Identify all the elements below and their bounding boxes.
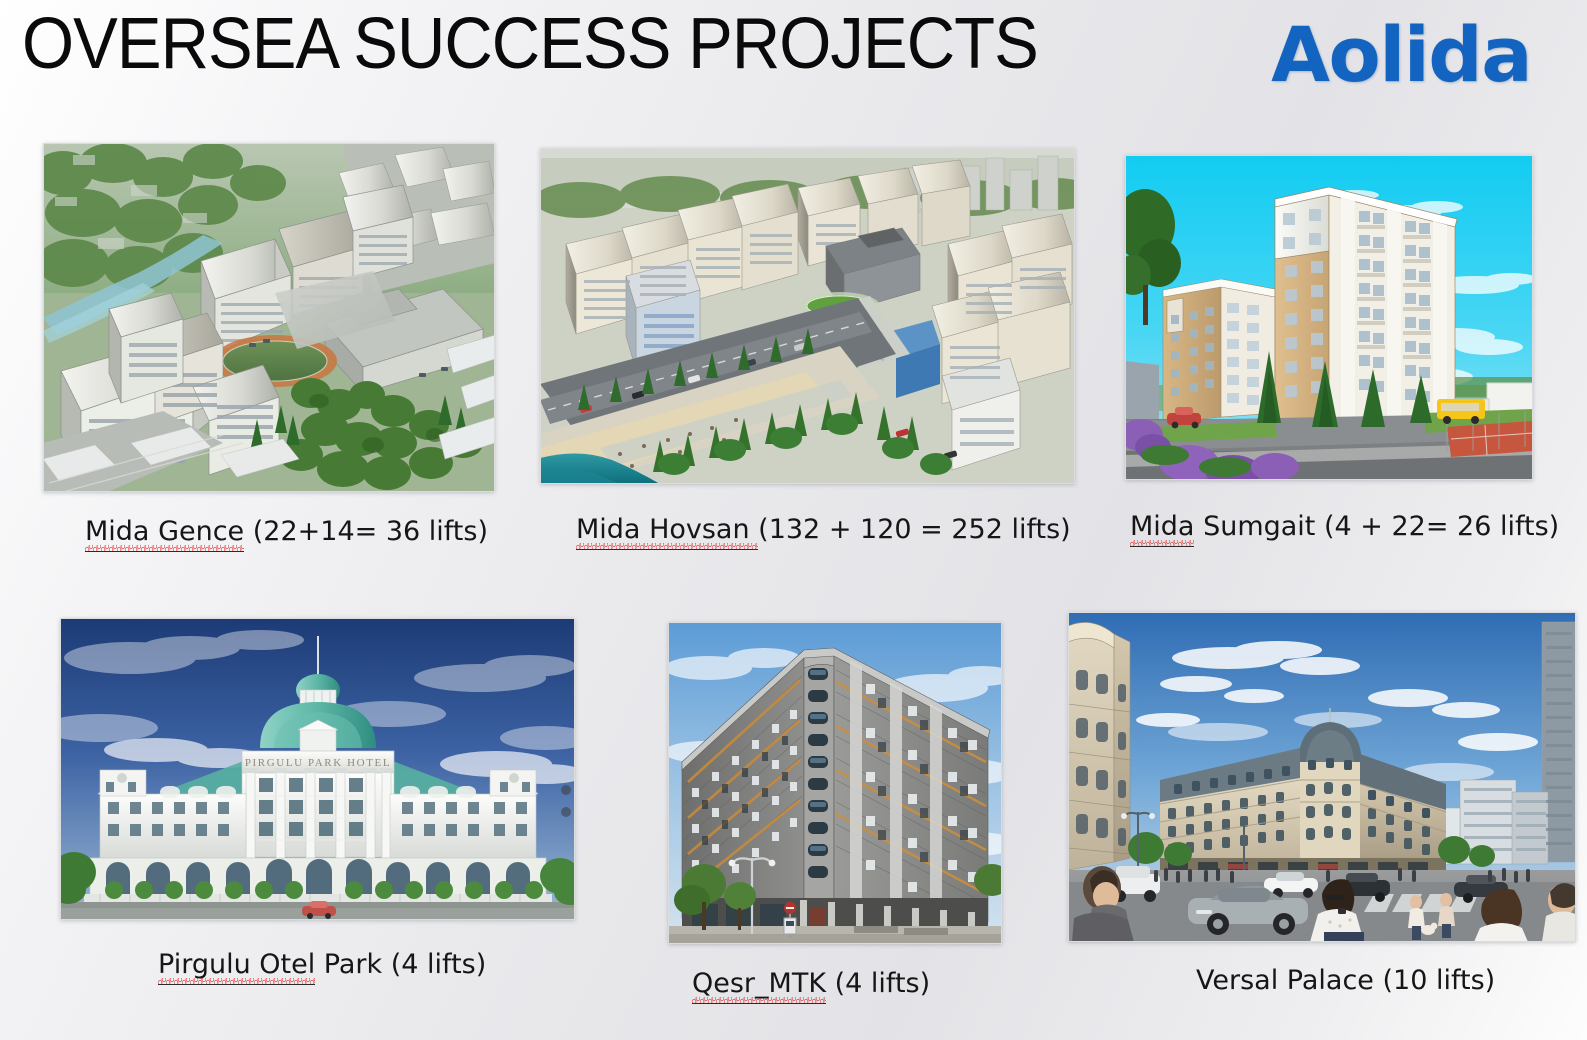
project-image-mida-gence xyxy=(43,143,495,492)
project-card-mida-hovsan[interactable]: Mida Hovsan (132 + 120 = 252 lifts) xyxy=(540,148,1075,484)
project-detail-qesr-mtk: (4 lifts) xyxy=(826,968,930,999)
project-caption-qesr-mtk: Qesr_MTK (4 lifts) xyxy=(692,967,930,1001)
project-name-pirgulu-otel-park: Pirgulu Otel xyxy=(158,949,315,985)
project-card-mida-sumgait[interactable]: Mida Sumgait (4 + 22= 26 lifts) xyxy=(1125,155,1533,480)
project-name-mida-gence: Mida Gence xyxy=(85,516,244,552)
project-card-qesr-mtk[interactable]: Qesr_MTK (4 lifts) xyxy=(668,622,1002,944)
project-image-qesr-mtk xyxy=(668,622,1002,944)
project-name-mida-hovsan: Mida Hovsan xyxy=(576,514,758,550)
project-name-mida-sumgait: Mida xyxy=(1130,511,1194,547)
project-caption-mida-sumgait: Mida Sumgait (4 + 22= 26 lifts) xyxy=(1130,510,1559,544)
svg-text:PIRGULU PARK HOTEL: PIRGULU PARK HOTEL xyxy=(245,757,391,769)
project-caption-pirgulu-otel-park: Pirgulu Otel Park (4 lifts) xyxy=(158,948,486,982)
project-detail-pirgulu-otel-park: Park (4 lifts) xyxy=(315,949,486,980)
project-detail-mida-gence: (22+14= 36 lifts) xyxy=(244,516,488,547)
project-card-pirgulu-otel-park[interactable]: PIRGULU PARK HOTEL xyxy=(60,618,575,920)
project-image-versal-palace xyxy=(1068,612,1576,942)
project-name-versal-palace: Versal Palace (10 lifts) xyxy=(1196,965,1495,996)
project-detail-mida-sumgait: Sumgait (4 + 22= 26 lifts) xyxy=(1194,511,1559,542)
project-caption-versal-palace: Versal Palace (10 lifts) xyxy=(1196,964,1495,998)
project-detail-mida-hovsan: (132 + 120 = 252 lifts) xyxy=(758,514,1071,545)
project-image-mida-hovsan xyxy=(540,148,1075,484)
project-image-pirgulu-otel-park: PIRGULU PARK HOTEL xyxy=(60,618,575,920)
brand-logo-aolida: Aolida xyxy=(1271,12,1531,98)
project-caption-mida-hovsan: Mida Hovsan (132 + 120 = 252 lifts) xyxy=(576,513,1071,547)
project-caption-mida-gence: Mida Gence (22+14= 36 lifts) xyxy=(85,515,488,549)
page-title: OVERSEA SUCCESS PROJECTS xyxy=(22,2,1038,86)
project-card-versal-palace[interactable]: Versal Palace (10 lifts) xyxy=(1068,612,1576,942)
project-card-mida-gence[interactable]: Mida Gence (22+14= 36 lifts) xyxy=(43,143,495,492)
project-image-mida-sumgait xyxy=(1125,155,1533,480)
project-name-qesr-mtk: Qesr_MTK xyxy=(692,968,826,1004)
